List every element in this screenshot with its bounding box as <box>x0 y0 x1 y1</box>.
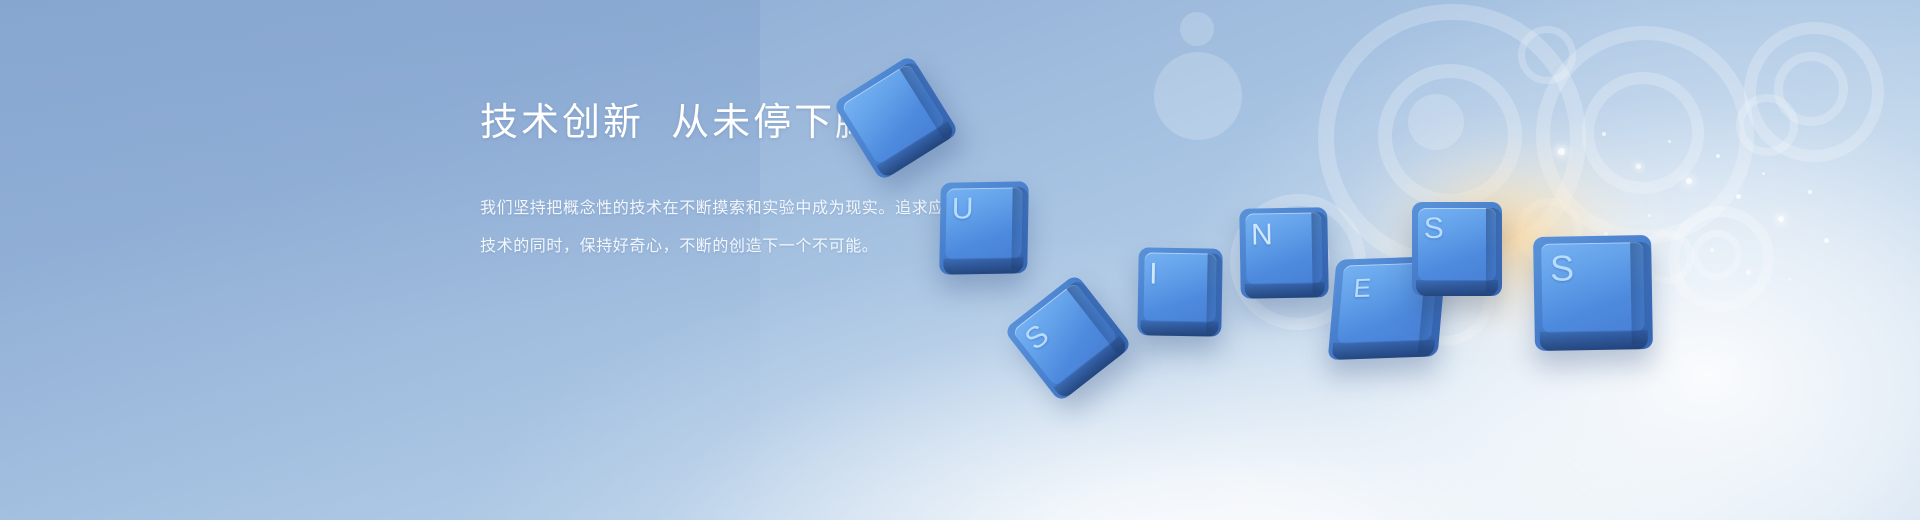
keycap-letter: S <box>1019 318 1056 357</box>
sparkle <box>1636 164 1641 169</box>
hero-subcopy: 我们坚持把概念性的技术在不断摸索和实验中成为现实。追求应用稳定尖端 技术的同时，… <box>480 148 1220 266</box>
keycap-body <box>1412 202 1502 296</box>
ring-small-3 <box>1640 230 1694 284</box>
ring-bottom-1 <box>1230 194 1366 330</box>
ring-bottom-2 <box>1396 248 1494 346</box>
keycap-bottom-side <box>1332 339 1435 360</box>
sparkle <box>1558 148 1565 155</box>
keycap-body <box>1239 207 1329 299</box>
sparkle <box>1762 172 1765 175</box>
hero-copy: 技术创新 从未停下脚步 我们坚持把概念性的技术在不断摸索和实验中成为现实。追求应… <box>480 100 1220 266</box>
sparkle <box>1686 178 1692 184</box>
sparkle <box>1808 190 1812 194</box>
keycap-face <box>1245 213 1322 285</box>
ring-small-2 <box>1516 198 1582 264</box>
sparkle <box>1788 278 1791 281</box>
sparkle <box>1604 232 1608 236</box>
keycap-face <box>1541 242 1644 333</box>
sparkle <box>1824 238 1829 243</box>
keycap-s-1: S <box>1003 273 1132 402</box>
keycap-s-2: S <box>1412 202 1502 296</box>
keycap-letter: E <box>1352 272 1372 304</box>
warm-light-glow <box>1325 60 1755 400</box>
keycap-right-side <box>1206 254 1222 333</box>
keycap-right-side <box>1311 213 1328 294</box>
ring-right-3 <box>1668 206 1774 312</box>
keycap-n: N <box>1239 207 1329 299</box>
keycap-face <box>1337 262 1438 344</box>
keycap-right-side <box>1630 242 1653 345</box>
ring-small-4 <box>1736 94 1798 156</box>
decorative-rings-group <box>1200 0 1920 360</box>
keycap-face <box>1418 208 1495 281</box>
keycap-right-side <box>1486 208 1502 293</box>
ring-large-1 <box>1318 4 1586 272</box>
ring-large-1-core <box>1408 94 1464 150</box>
keycap-e: E <box>1328 256 1447 360</box>
ring-right-4 <box>1692 230 1742 280</box>
keycap-letter: S <box>1550 248 1575 290</box>
sparkle <box>1602 132 1606 136</box>
sparkle <box>1710 248 1714 252</box>
keycap-right-side <box>1418 262 1446 353</box>
ring-large-1-inner <box>1378 64 1522 208</box>
keycap-body <box>1533 235 1653 351</box>
subcopy-line-2: 技术的同时，保持好奇心，不断的创造下一个不可能。 <box>480 228 1220 266</box>
sparkle <box>1746 270 1751 275</box>
keycap-bottom-side <box>1539 330 1648 351</box>
sparkle <box>1648 214 1651 217</box>
blob-soft-2 <box>1180 12 1214 46</box>
sparkle <box>1736 194 1741 199</box>
right-white-glow <box>1100 0 1920 520</box>
keycap-right-side <box>1066 278 1130 353</box>
ring-large-2-inner <box>1582 72 1704 194</box>
page-title: 技术创新 从未停下脚步 <box>480 100 1220 148</box>
keycap-letter: N <box>1251 218 1273 252</box>
keycap-bottom-side <box>1416 280 1499 296</box>
keycap-bottom-side <box>1141 320 1219 336</box>
hero-banner: 技术创新 从未停下脚步 我们坚持把概念性的技术在不断摸索和实验中成为现实。追求应… <box>0 0 1920 520</box>
keycap-body <box>1003 273 1132 402</box>
sparkle <box>1716 154 1720 158</box>
keycap-face <box>1012 282 1119 387</box>
subcopy-line-1: 我们坚持把概念性的技术在不断摸索和实验中成为现实。追求应用稳定尖端 <box>480 190 1220 228</box>
ring-right-1 <box>1744 22 1884 162</box>
sparkle-particles <box>1540 120 1870 310</box>
keycap-bottom-side <box>1053 336 1129 400</box>
keycap-s-3: S <box>1533 235 1653 351</box>
sparkle <box>1668 140 1671 143</box>
sparkle <box>1778 216 1784 222</box>
keycap-bottom-side <box>1244 282 1325 299</box>
ring-bottom-1-inner <box>1260 224 1330 294</box>
ring-right-2 <box>1774 52 1848 126</box>
keycap-letter: S <box>1424 212 1444 246</box>
ring-small-1 <box>1518 26 1576 84</box>
ring-large-2 <box>1536 26 1754 244</box>
keycap-body <box>1328 256 1447 360</box>
